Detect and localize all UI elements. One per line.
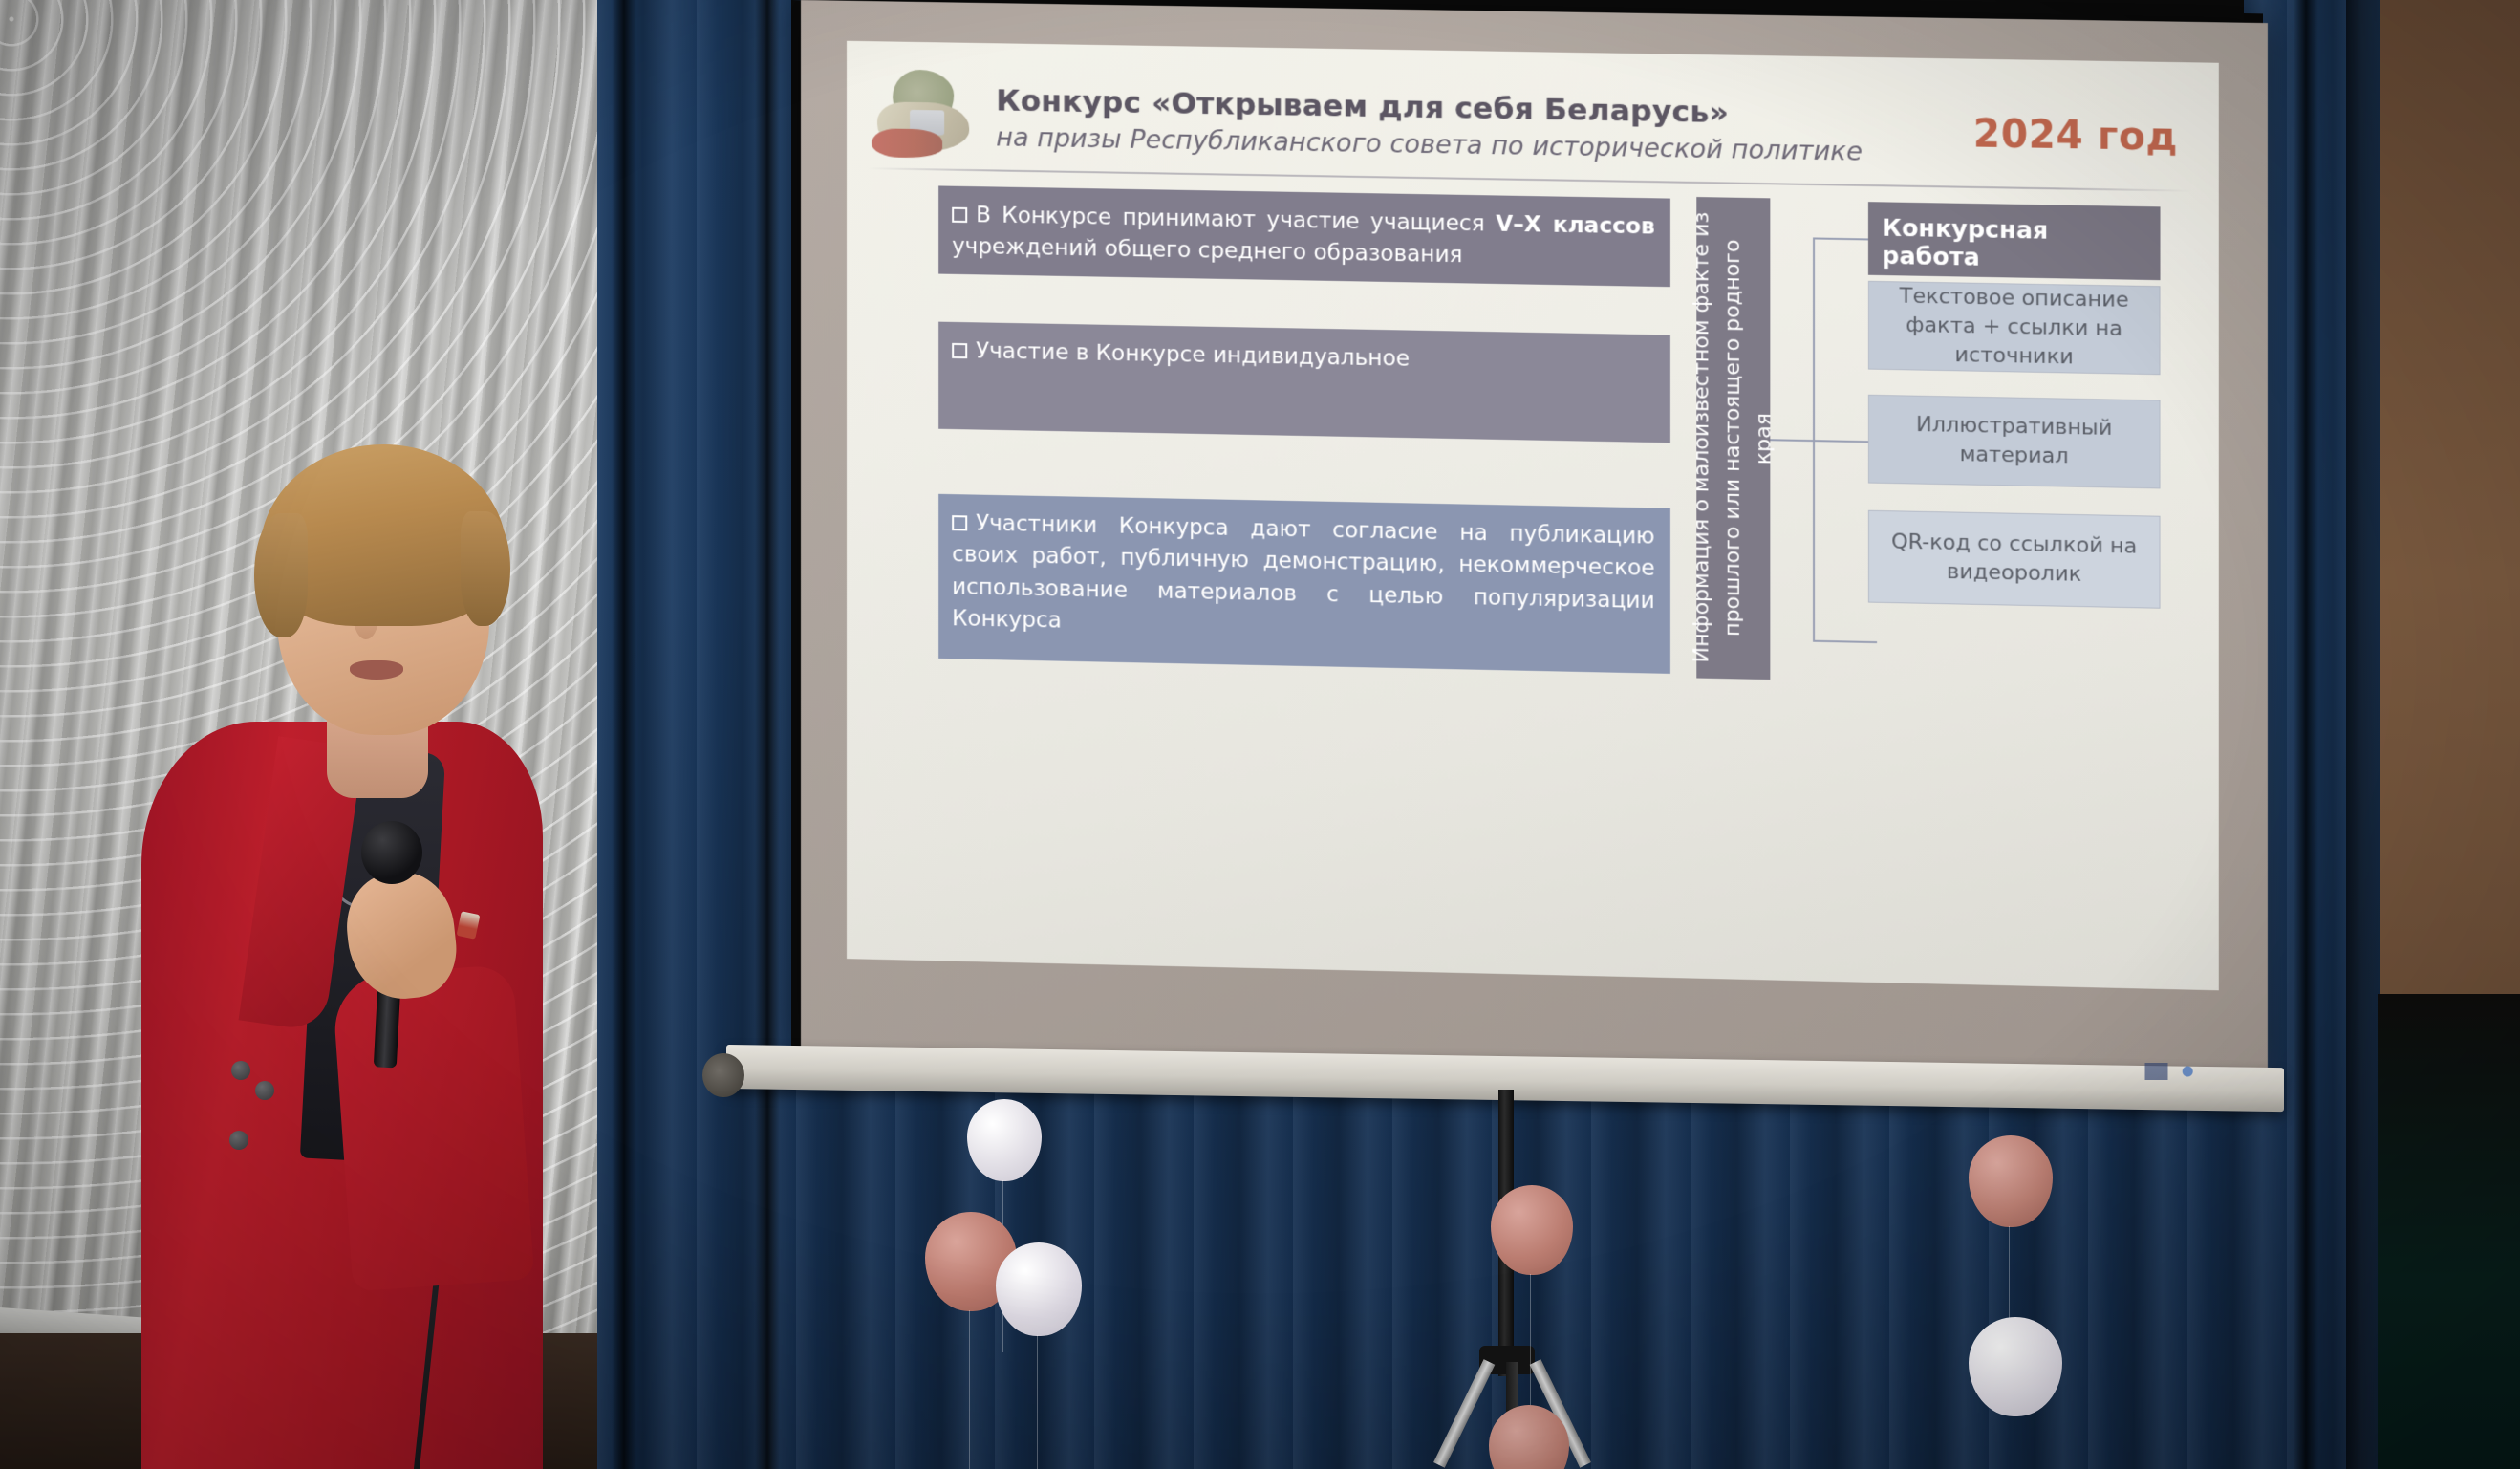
jacket-button-2: [255, 1081, 274, 1100]
work-component-1: Текстовое описание факта + ссылки на ист…: [1868, 281, 2161, 375]
connector-branch-3: [1813, 640, 1877, 643]
belarus-map-emblem-icon: [868, 63, 982, 170]
bullet-3-text: Участники Конкурса дают согласие на публ…: [952, 511, 1655, 634]
presenter-arm: [332, 964, 535, 1291]
bullet-item-3: Участники Конкурса дают согласие на публ…: [938, 494, 1670, 674]
connector-stub: [1770, 439, 1813, 442]
work-component-2: Иллюстративный материал: [1868, 395, 2161, 489]
balloon-rose-right: [1969, 1135, 2053, 1227]
bullet-1-tail: учреждений общего среднего образования: [952, 234, 1462, 268]
slide-year-badge: 2024 год: [1973, 112, 2178, 160]
screen-brand-logo-icon: [2139, 1063, 2200, 1080]
curtain-seam-right: [2294, 0, 2318, 1469]
right-wall: [2380, 0, 2520, 1051]
checkbox-square-icon: [952, 207, 967, 223]
checkbox-square-icon: [952, 515, 967, 530]
screen-roller-endcap: [702, 1053, 744, 1097]
bullet-item-2: Участие в Конкурсе индивидуальное: [938, 322, 1670, 443]
work-column-heading: Конкурсная работа: [1868, 202, 2161, 280]
bullet-item-1: В Конкурсе принимают участие учащиеся V–…: [938, 185, 1670, 287]
presenter-woman: [115, 435, 612, 1469]
bullet-2-text: Участие в Конкурсе индивидуальное: [976, 338, 1410, 371]
work-component-3: QR-код со ссылкой на видеоролик: [1868, 510, 2161, 609]
projector-screen: Конкурс «Открываем для себя Беларусь» на…: [801, 0, 2268, 1082]
balloon-white-right: [1969, 1317, 2062, 1416]
slide-header: Конкурс «Открываем для себя Беларусь» на…: [847, 58, 2219, 197]
jacket-button-3: [229, 1131, 248, 1150]
bullet-1-lead: В Конкурсе принимают участие учащиеся: [976, 203, 1496, 237]
bracket-connector: [1770, 200, 1877, 683]
vertical-info-label: Информация о малоизвестном факте из прош…: [1687, 211, 1779, 665]
presenter-mouth: [350, 660, 403, 680]
balloon-white-left: [996, 1242, 1082, 1336]
work-components-column: Конкурсная работа Текстовое описание фак…: [1868, 202, 2161, 609]
slide-header-text: Конкурс «Открываем для себя Беларусь» на…: [996, 83, 1973, 168]
dark-cabinet-right: [2378, 994, 2520, 1469]
vertical-info-bar: Информация о малоизвестном факте из прош…: [1696, 197, 1770, 680]
jacket-button-1: [231, 1061, 250, 1080]
presenter-hair: [260, 444, 506, 626]
bullet-list: В Конкурсе принимают участие учащиеся V–…: [938, 185, 1670, 673]
microphone-icon: [361, 821, 422, 884]
curtain-seam-left: [612, 0, 636, 1469]
presentation-photo-scene: Конкурс «Открываем для себя Беларусь» на…: [0, 0, 2520, 1469]
bullet-1-bold: V–X классов: [1496, 212, 1655, 240]
presentation-slide: Конкурс «Открываем для себя Беларусь» на…: [847, 41, 2219, 991]
balloon-rose-center: [1491, 1185, 1573, 1275]
balloon-white-top: [967, 1099, 1042, 1181]
checkbox-square-icon: [952, 343, 967, 358]
curtain-seam-mid: [755, 0, 780, 1469]
